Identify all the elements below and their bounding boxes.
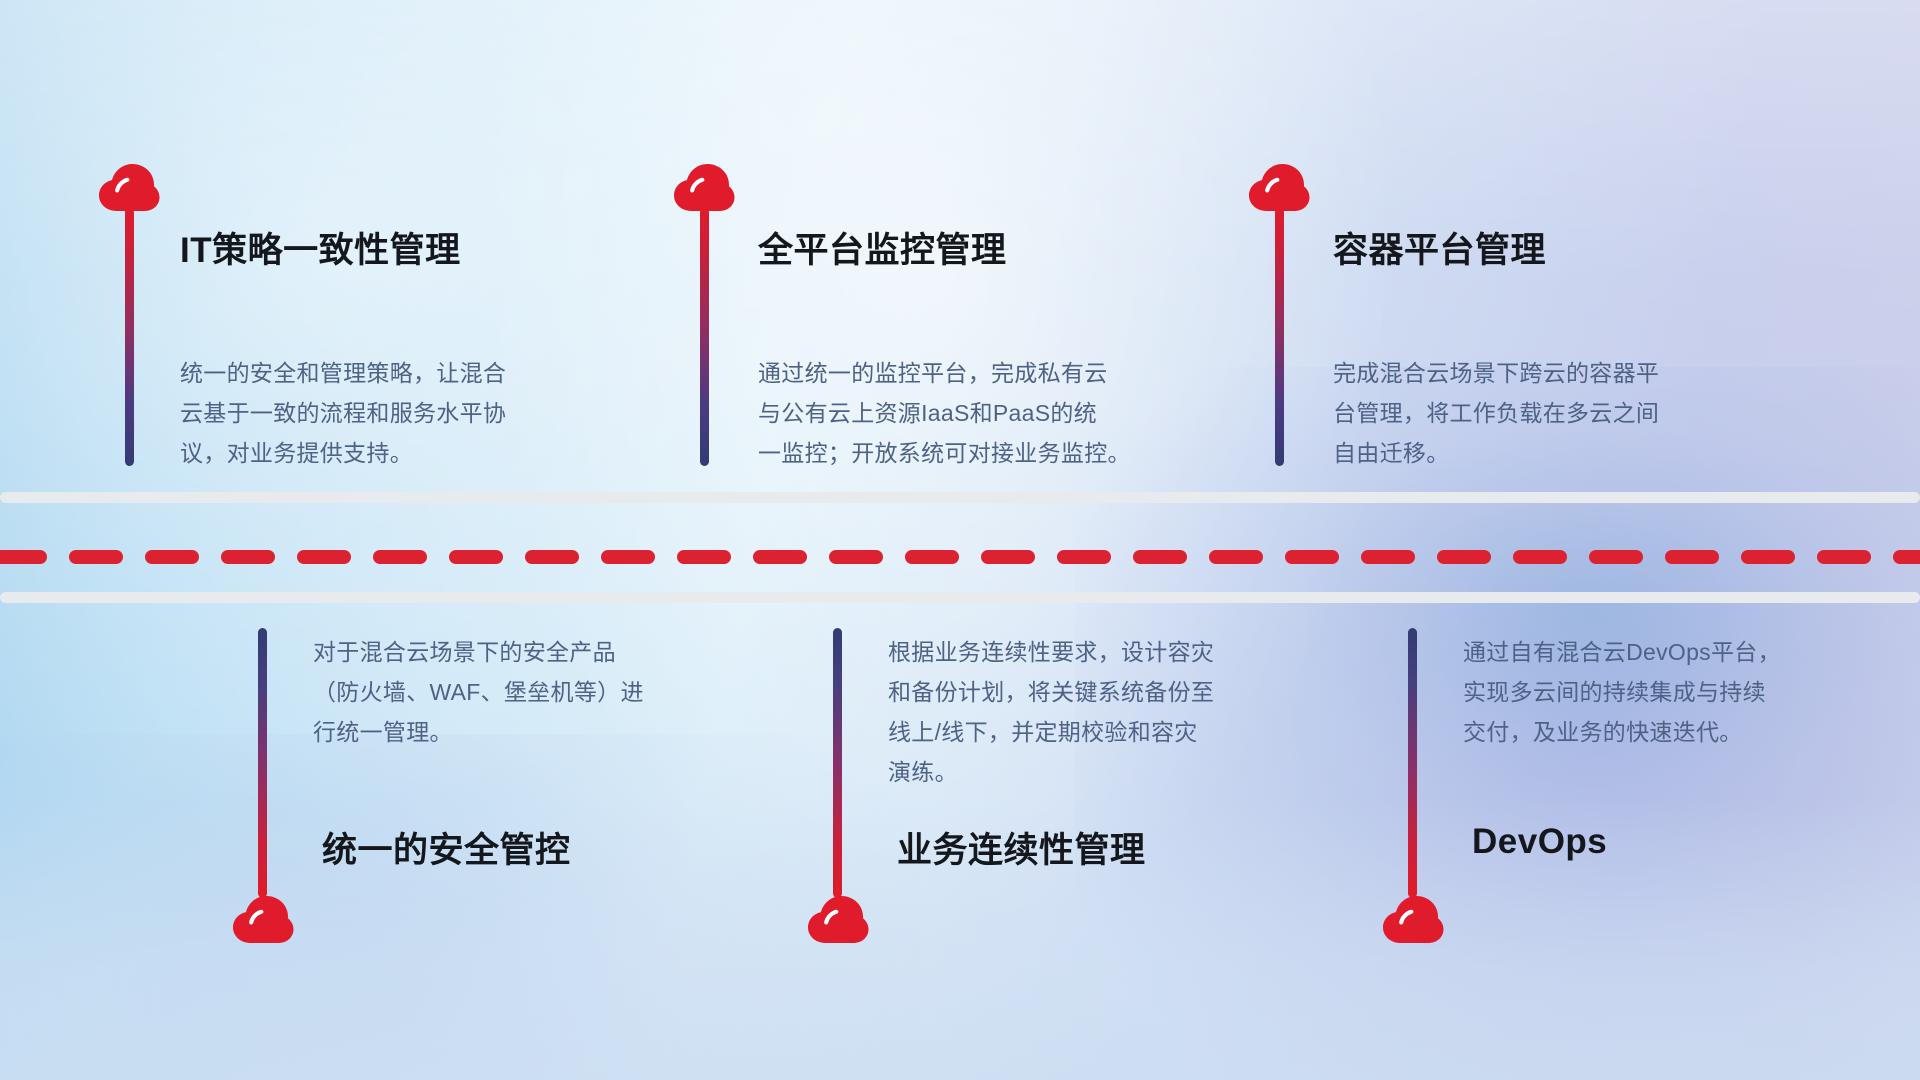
connector-stem — [125, 208, 134, 466]
connector-stem — [833, 628, 842, 898]
cloud-icon — [673, 160, 735, 212]
item-title: IT策略一致性管理 — [180, 222, 461, 273]
cloud-icon — [98, 160, 160, 212]
item-title: 全平台监控管理 — [758, 222, 1007, 273]
item-title: 统一的安全管控 — [322, 822, 571, 873]
item-title: 业务连续性管理 — [897, 822, 1146, 873]
cloud-icon — [807, 892, 869, 944]
item-title: 容器平台管理 — [1333, 222, 1546, 273]
red-dashed-divider — [0, 549, 1920, 565]
connector-stem — [700, 208, 709, 466]
infographic-canvas: IT策略一致性管理 统一的安全和管理策略，让混合 云基于一致的流程和服务水平协 … — [0, 0, 1920, 1080]
connector-stem — [1408, 628, 1417, 898]
item-description: 对于混合云场景下的安全产品 （防火墙、WAF、堡垒机等）进 行统一管理。 — [313, 632, 733, 752]
connector-stem — [1275, 208, 1284, 466]
connector-stem — [258, 628, 267, 898]
item-description: 根据业务连续性要求，设计容灾 和备份计划，将关键系统备份至 线上/线下，并定期校… — [888, 632, 1308, 792]
item-title: DevOps — [1472, 822, 1607, 862]
upper-solid-rule — [0, 492, 1920, 503]
item-description: 完成混合云场景下跨云的容器平 台管理，将工作负载在多云之间 自由迁移。 — [1333, 353, 1753, 473]
cloud-icon — [1248, 160, 1310, 212]
item-description: 通过统一的监控平台，完成私有云 与公有云上资源IaaS和PaaS的统 一监控；开… — [758, 353, 1178, 473]
cloud-icon — [232, 892, 294, 944]
cloud-icon — [1382, 892, 1444, 944]
item-description: 通过自有混合云DevOps平台， 实现多云间的持续集成与持续 交付，及业务的快速… — [1463, 632, 1883, 752]
item-description: 统一的安全和管理策略，让混合 云基于一致的流程和服务水平协 议，对业务提供支持。 — [180, 353, 600, 473]
lower-solid-rule — [0, 592, 1920, 603]
